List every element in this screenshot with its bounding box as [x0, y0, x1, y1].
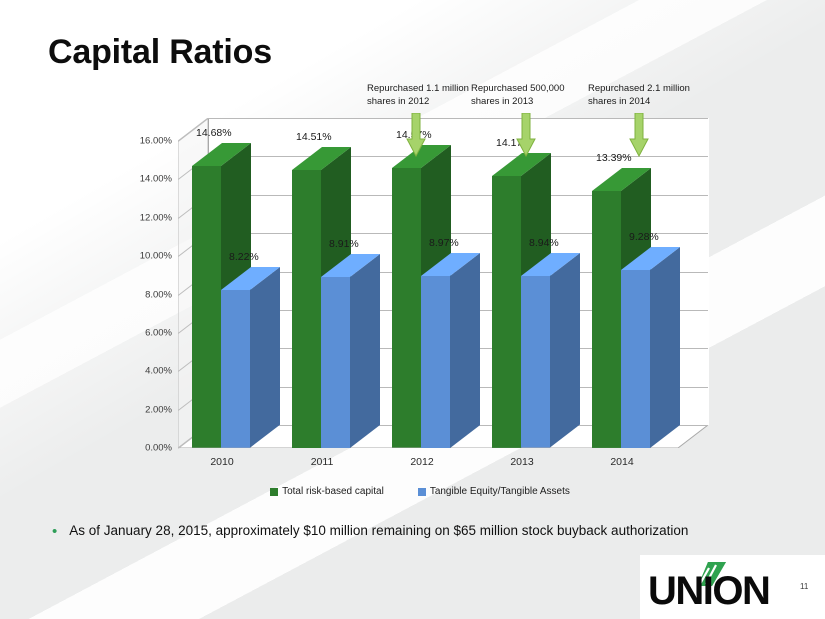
bar-data-label: 9.28% [629, 231, 659, 243]
capital-ratios-chart: 16.00%14.00%12.00%10.00%8.00%6.00%4.00%2… [120, 118, 720, 478]
bar-data-label: 14.68% [196, 127, 232, 139]
y-axis-tick: 8.00% [145, 289, 172, 300]
bar-data-label: 8.94% [529, 237, 559, 249]
down-arrow-icon [516, 113, 536, 157]
bar-3d-shape [521, 253, 580, 448]
bar-total-risk-based-capital-2010[interactable] [192, 166, 221, 448]
bullet-text: As of January 28, 2015, approximately $1… [69, 521, 688, 540]
bar-tangible-equity-tangible-assets-2013[interactable] [521, 276, 550, 448]
callout-text: Repurchased 1.1 million shares in 2012 [367, 82, 469, 108]
page-title: Capital Ratios [48, 33, 272, 72]
bar-3d-shape [421, 253, 480, 448]
bullet-marker: • [52, 524, 57, 539]
slide-canvas: Capital Ratios 16.00%14.00%12.00%10.00%8… [0, 0, 825, 619]
y-axis-tick: 6.00% [145, 327, 172, 338]
bullet-list: • As of January 28, 2015, approximately … [52, 521, 752, 540]
bar-tangible-equity-tangible-assets-2011[interactable] [321, 277, 350, 448]
callout-text: Repurchased 500,000 shares in 2013 [471, 82, 573, 108]
union-logo: UNION [648, 560, 798, 612]
legend-label: Tangible Equity/Tangible Assets [430, 486, 570, 497]
y-axis-tick: 2.00% [145, 404, 172, 415]
x-axis-tick: 2013 [510, 456, 533, 468]
y-axis: 16.00%14.00%12.00%10.00%8.00%6.00%4.00%2… [120, 118, 172, 448]
bar-tangible-equity-tangible-assets-2012[interactable] [421, 276, 450, 448]
x-axis-tick: 2010 [210, 456, 233, 468]
bar-data-label: 13.39% [596, 152, 632, 164]
x-axis-tick: 2012 [410, 456, 433, 468]
logo-wordmark: UNION [648, 569, 769, 614]
y-axis-tick: 0.00% [145, 443, 172, 454]
bar-3d-shape [321, 254, 380, 448]
x-axis-tick: 2011 [311, 456, 334, 468]
bar-total-risk-based-capital-2012[interactable] [392, 168, 421, 448]
down-arrow-icon [406, 113, 426, 157]
legend-swatch-icon [418, 488, 426, 496]
bar-data-label: 8.22% [229, 251, 259, 263]
callout-text: Repurchased 2.1 million shares in 2014 [588, 82, 690, 108]
y-axis-tick: 14.00% [140, 174, 172, 185]
bar-tangible-equity-tangible-assets-2010[interactable] [221, 290, 250, 448]
bar-tangible-equity-tangible-assets-2014[interactable] [621, 270, 650, 448]
legend-item[interactable]: Tangible Equity/Tangible Assets [418, 486, 570, 497]
legend-item[interactable]: Total risk-based capital [270, 486, 384, 497]
bar-total-risk-based-capital-2013[interactable] [492, 176, 521, 448]
y-axis-tick: 4.00% [145, 366, 172, 377]
bar-total-risk-based-capital-2011[interactable] [292, 170, 321, 448]
down-arrow-icon [629, 113, 649, 157]
y-axis-tick: 10.00% [140, 251, 172, 262]
bar-data-label: 8.91% [329, 238, 359, 250]
plot-area: 14.68%8.22%14.51%8.91%14.57%8.97%14.17%8… [178, 118, 708, 448]
chart-legend: Total risk-based capitalTangible Equity/… [120, 486, 720, 497]
bar-data-label: 14.51% [296, 131, 332, 143]
bar-total-risk-based-capital-2014[interactable] [592, 191, 621, 448]
page-number: 11 [800, 582, 808, 591]
x-axis-tick: 2014 [610, 456, 633, 468]
bar-3d-shape [221, 267, 280, 448]
y-axis-tick: 12.00% [140, 212, 172, 223]
bar-3d-shape [621, 247, 680, 448]
legend-label: Total risk-based capital [282, 486, 384, 497]
y-axis-tick: 16.00% [140, 136, 172, 147]
bar-data-label: 8.97% [429, 237, 459, 249]
legend-swatch-icon [270, 488, 278, 496]
